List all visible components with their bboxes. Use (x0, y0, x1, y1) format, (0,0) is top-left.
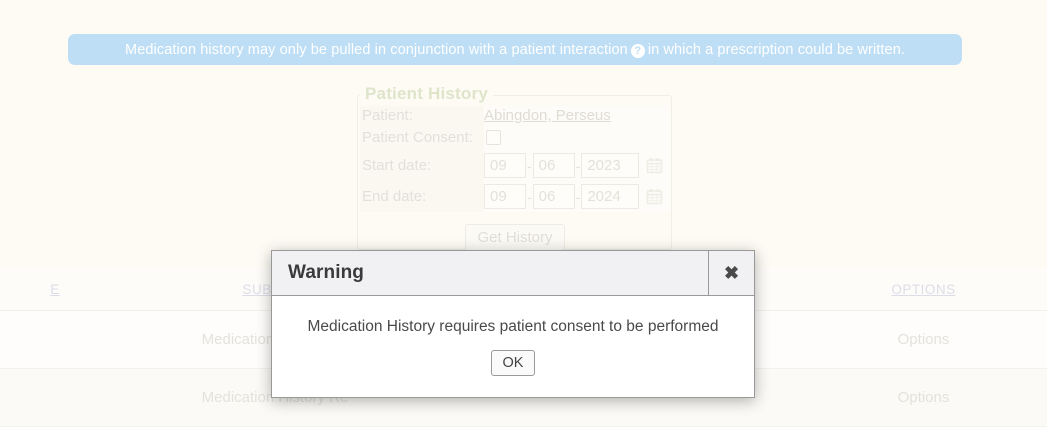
column-header-date[interactable]: E (0, 268, 110, 311)
end-date-label: End date: (360, 181, 484, 212)
modal-message: Medication History requires patient cons… (282, 318, 744, 337)
warning-modal: Warning ✖ Medication History requires pa… (271, 250, 755, 398)
patient-label: Patient: (360, 106, 484, 125)
cell-date (0, 311, 110, 369)
form-row-start-date: Start date: - - (360, 150, 670, 181)
form-row-patient: Patient: Abingdon, Perseus (360, 106, 670, 125)
start-date-cell: - - (484, 150, 670, 181)
modal-body: Medication History requires patient cons… (272, 296, 754, 376)
start-date-separator-2: - (575, 158, 582, 174)
patient-name-link[interactable]: Abingdon, Perseus (484, 107, 611, 124)
calendar-icon[interactable] (646, 188, 663, 205)
ok-button[interactable]: OK (491, 350, 536, 377)
info-banner: Medication history may only be pulled in… (68, 34, 962, 65)
end-date-cell: - - (484, 181, 670, 212)
end-date-year-input[interactable] (581, 184, 639, 209)
patient-consent-label: Patient Consent: (360, 125, 484, 150)
form-row-consent: Patient Consent: (360, 125, 670, 150)
patient-history-form: Patient: Abingdon, Perseus Patient Conse… (360, 106, 670, 212)
patient-consent-checkbox[interactable] (486, 130, 501, 145)
cell-options[interactable]: Options (800, 311, 1047, 369)
end-date-day-input[interactable] (533, 184, 575, 209)
start-date-separator-1: - (526, 158, 533, 174)
start-date-label: Start date: (360, 150, 484, 181)
cell-options[interactable]: Options (800, 369, 1047, 427)
calendar-icon[interactable] (646, 157, 663, 174)
patient-consent-cell (484, 125, 670, 150)
modal-title: Warning (272, 262, 708, 284)
form-row-end-date: End date: - - (360, 181, 670, 212)
start-date-day-input[interactable] (533, 153, 575, 178)
end-date-month-input[interactable] (484, 184, 526, 209)
start-date-month-input[interactable] (484, 153, 526, 178)
close-icon[interactable]: ✖ (708, 251, 754, 295)
banner-text-before: Medication history may only be pulled in… (125, 42, 628, 58)
start-date-year-input[interactable] (581, 153, 639, 178)
get-history-wrap: Get History (360, 224, 670, 251)
end-date-separator-2: - (575, 189, 582, 205)
get-history-button[interactable]: Get History (465, 224, 564, 251)
question-circle-icon[interactable]: ? (631, 44, 645, 58)
end-date-separator-1: - (526, 189, 533, 205)
modal-header: Warning ✖ (272, 251, 754, 296)
patient-value-cell: Abingdon, Perseus (484, 106, 670, 125)
banner-text-after: in which a prescription could be written… (648, 42, 905, 58)
column-header-options[interactable]: OPTIONS (800, 268, 1047, 311)
cell-date (0, 369, 110, 427)
patient-history-legend: Patient History (360, 84, 493, 104)
